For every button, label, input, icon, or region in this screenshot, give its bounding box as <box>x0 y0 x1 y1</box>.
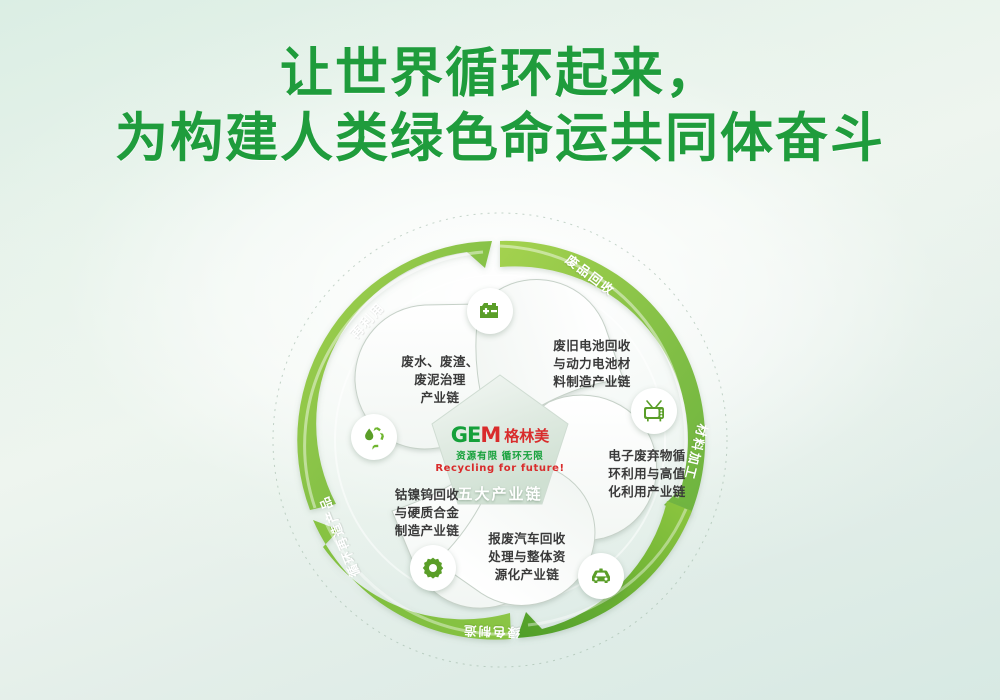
gear-icon-badge[interactable] <box>410 545 456 591</box>
gear-icon <box>420 555 446 581</box>
logo-brand-chinese: 格林美 <box>504 425 549 446</box>
logo-tagline: Recycling for future! <box>425 463 575 474</box>
recycle-drop-icon <box>360 423 388 451</box>
petal-label-vehicle: 报废汽车回收 处理与整体资 源化产业链 <box>468 530 586 584</box>
ring-label-green-manufacturing: 绿色制造 <box>462 622 521 643</box>
car-icon <box>588 563 614 589</box>
petal-label-waste-water: 废水、废渣、 废泥治理 产业链 <box>384 353 496 407</box>
television-icon <box>641 398 667 424</box>
page-title: 让世界循环起来， 为构建人类绿色命运共同体奋斗 <box>0 42 1000 171</box>
recycle-drop-icon-badge[interactable] <box>351 414 397 460</box>
title-line-1: 让世界循环起来， <box>0 42 1000 107</box>
logo-brand-latin: GEM <box>451 423 501 447</box>
car-icon-badge[interactable] <box>578 553 624 599</box>
battery-icon <box>477 298 503 324</box>
circular-industry-chain-diagram: 废旧电池回收 与动力电池材 料制造产业链 电子废弃物循 环利用与高值 化利用产业… <box>240 205 760 675</box>
logo-slogan: 资源有限 循环无限 <box>425 448 575 462</box>
battery-icon-badge[interactable] <box>467 288 513 334</box>
center-caption: 五大产业链 <box>425 483 575 504</box>
gem-logo: GEM 格林美 资源有限 循环无限 Recycling for future! <box>425 423 575 474</box>
television-icon-badge[interactable] <box>631 388 677 434</box>
petal-label-battery: 废旧电池回收 与动力电池材 料制造产业链 <box>533 337 651 391</box>
logo-wordmark-row: GEM 格林美 <box>425 423 575 447</box>
title-line-2: 为构建人类绿色命运共同体奋斗 <box>0 107 1000 172</box>
